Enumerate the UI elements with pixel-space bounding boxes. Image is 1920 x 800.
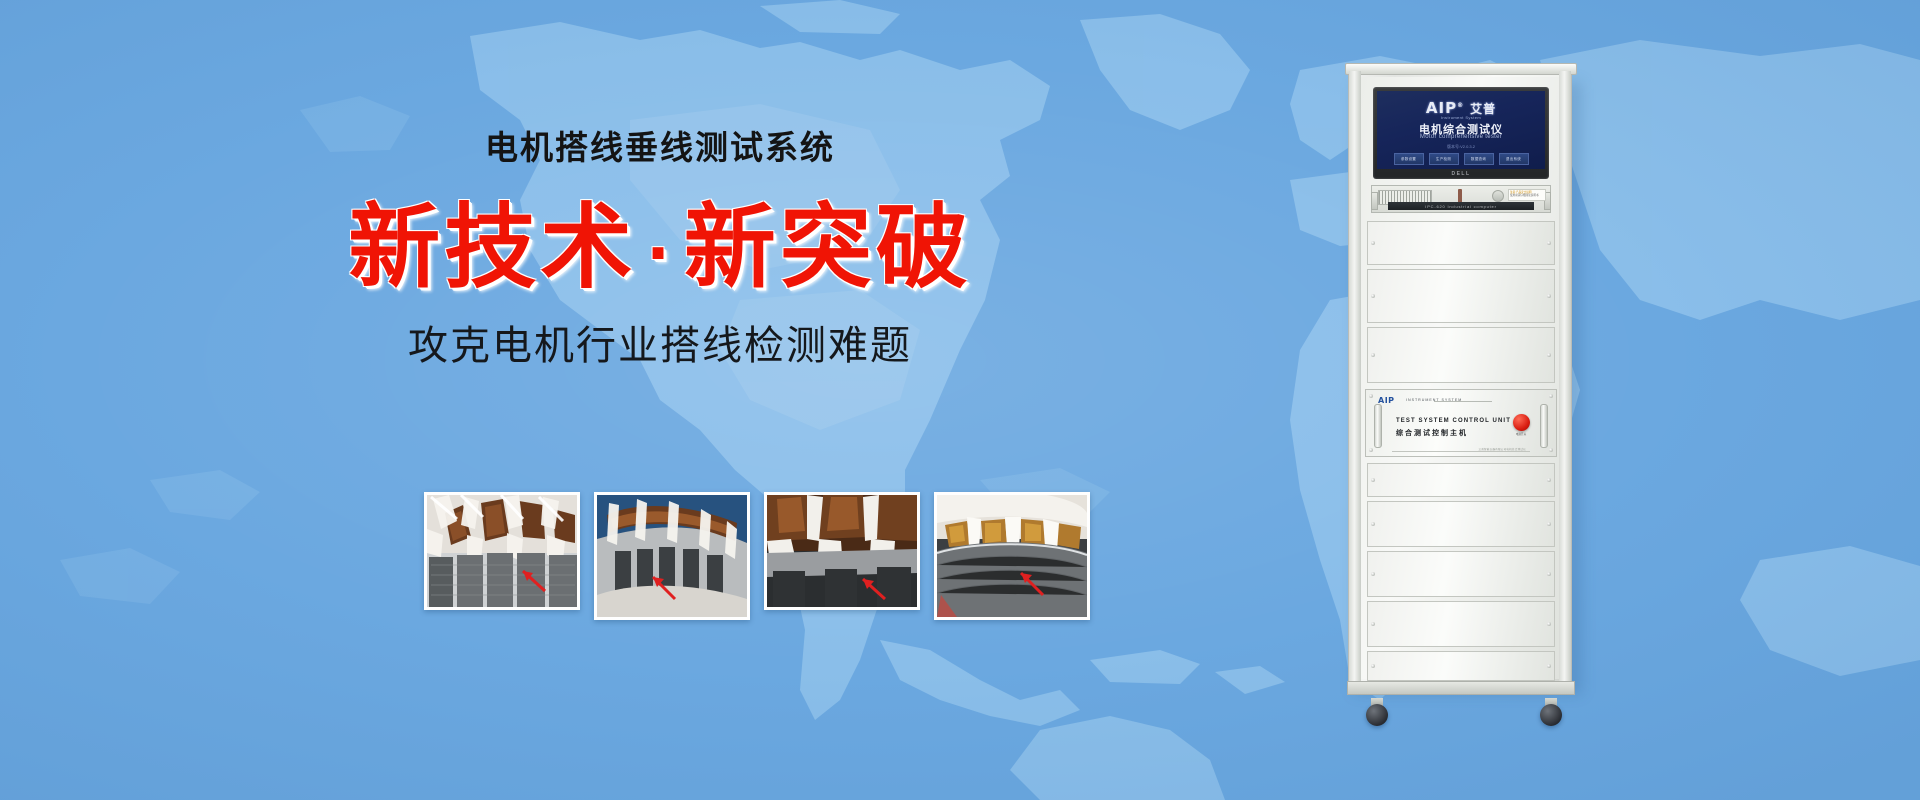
monitor-bezel: AIP®艾普 Instrument System 电机综合测试仪 Motor c… <box>1373 87 1549 179</box>
caster-wheel-left <box>1366 704 1388 726</box>
promo-banner: 电机搭线垂线测试系统 新技术·新突破 攻克电机行业搭线检测难题 <box>0 0 1920 800</box>
rack-blank-panel-6 <box>1367 551 1555 597</box>
monitor-screen[interactable]: AIP®艾普 Instrument System 电机综合测试仪 Motor c… <box>1377 91 1545 169</box>
thumbnail-stator-winding-3[interactable] <box>764 492 920 610</box>
headline-right-text: 新突破 <box>684 194 972 301</box>
control-unit-divider <box>1434 401 1492 402</box>
rack-blank-panel-8 <box>1367 651 1555 681</box>
headline-left-text: 新技术 <box>348 194 636 301</box>
rack-blank-panel-3 <box>1367 327 1555 383</box>
control-unit-footer-rule <box>1392 451 1530 452</box>
control-unit-title-cn: 综合测试控制主机 <box>1396 428 1468 438</box>
emergency-stop-label: 电源开关 <box>1508 433 1534 436</box>
control-unit-screw-bl <box>1369 448 1373 452</box>
cabinet-body: AIP®艾普 Instrument System 电机综合测试仪 Motor c… <box>1348 70 1572 686</box>
rack-blank-panel-7 <box>1367 601 1555 647</box>
screen-button-production-test[interactable]: 生产检测 <box>1429 153 1459 165</box>
control-unit-handle-left[interactable] <box>1374 404 1382 448</box>
pc-model-strip: IPC-620 Industrial computer <box>1388 202 1534 210</box>
rack-blank-panel-4 <box>1367 463 1555 497</box>
screen-title-en: Motor comprehensive tester <box>1377 134 1545 140</box>
thumbnail-stator-winding-1[interactable] <box>424 492 580 610</box>
control-unit-screw-br <box>1549 448 1553 452</box>
screen-brand-tagline: Instrument System <box>1377 115 1545 120</box>
monitor-brand-label: DELL <box>1377 169 1545 178</box>
thumbnail-stator-winding-4[interactable] <box>934 492 1090 620</box>
industrial-pc-unit[interactable]: 注意:产品安全说明 使用前请仔细阅读说明书 IPC-620 Industrial… <box>1371 185 1551 213</box>
screen-brand-cn: 艾普 <box>1470 102 1496 116</box>
screen-version-label: 版本号:V2.0.3.2 <box>1377 144 1545 150</box>
cabinet-base-plinth <box>1347 681 1575 695</box>
pc-warning-line-2: 使用前请仔细阅读说明书 <box>1510 194 1544 197</box>
thumbnail-stator-winding-2[interactable] <box>594 492 750 620</box>
test-system-control-unit[interactable]: AIP INSTRUMENT SYSTEM TEST SYSTEM CONTRO… <box>1365 389 1557 457</box>
pc-drive-slot <box>1458 189 1462 203</box>
headline-block: 电机搭线垂线测试系统 新技术·新突破 攻克电机行业搭线检测难题 <box>330 130 990 369</box>
control-unit-screw-tl <box>1369 394 1373 398</box>
screen-button-row: 参数设置 生产检测 数据查询 退出系统 <box>1377 153 1545 165</box>
caster-wheel-right <box>1540 704 1562 726</box>
pc-warning-label: 注意:产品安全说明 使用前请仔细阅读说明书 <box>1508 189 1546 201</box>
subheadline-text: 攻克电机行业搭线检测难题 <box>330 323 990 369</box>
rack-blank-panel-2 <box>1367 269 1555 323</box>
control-unit-title-en: TEST SYSTEM CONTROL UNIT <box>1396 418 1511 424</box>
rack-blank-panel-1 <box>1367 221 1555 265</box>
pc-rack-ear-left <box>1371 192 1378 210</box>
control-unit-screw-tr <box>1549 394 1553 398</box>
thumbnail-strip <box>424 492 1090 620</box>
rack-blank-panel-5 <box>1367 501 1555 547</box>
cabinet-left-rail <box>1349 71 1361 685</box>
headline-separator-dot: · <box>636 217 684 290</box>
screen-button-exit[interactable]: 退出系统 <box>1499 153 1529 165</box>
emergency-stop-button[interactable] <box>1513 414 1530 431</box>
instrument-cabinet[interactable]: AIP®艾普 Instrument System 电机综合测试仪 Motor c… <box>1348 70 1580 700</box>
screen-brand-registered-mark: ® <box>1457 102 1464 109</box>
emergency-stop-label-cn: 电源开关 <box>1516 433 1526 436</box>
screen-button-params[interactable]: 参数设置 <box>1394 153 1424 165</box>
world-map-background <box>0 0 1920 800</box>
eyebrow-text: 电机搭线垂线测试系统 <box>330 130 990 166</box>
cabinet-right-rail <box>1559 71 1571 685</box>
control-unit-handle-right[interactable] <box>1540 404 1548 448</box>
main-headline: 新技术·新突破 <box>330 200 990 297</box>
control-unit-footer-text: 艾普智能仪器有限公司电机综合测试仪 <box>1479 447 1526 451</box>
screen-button-data-query[interactable]: 数据查询 <box>1464 153 1494 165</box>
cabinet-top-cap <box>1345 63 1577 75</box>
pc-power-badge-icon <box>1492 190 1504 202</box>
